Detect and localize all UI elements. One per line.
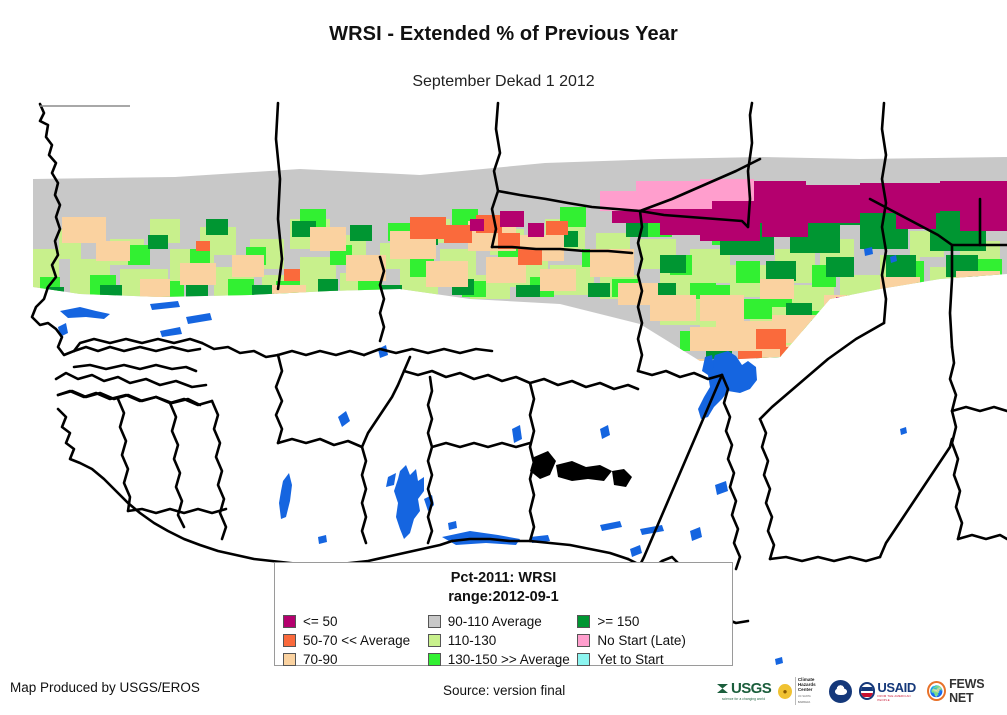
legend-swatch-icon (283, 653, 296, 666)
water-drop-icon: ● (778, 684, 792, 699)
legend-item: Yet to Start (577, 651, 726, 668)
legend-item-label: Yet to Start (597, 652, 663, 667)
legend-title: Pct-2011: WRSI range:2012-09-1 (275, 563, 732, 607)
legend-item: 70-90 (283, 651, 428, 668)
niger-delta-coast (530, 451, 632, 487)
globe-icon: 🌍 (927, 681, 946, 701)
wrsi-map-page: WRSI - Extended % of Previous Year Septe… (0, 0, 1007, 715)
usgs-mark-icon (716, 682, 729, 695)
footer-produced-by: Map Produced by USGS/EROS (10, 680, 200, 695)
legend-item-label: >= 150 (597, 614, 639, 629)
legend-swatch-icon (283, 615, 296, 628)
legend-title-line1: Pct-2011: WRSI (275, 569, 732, 588)
legend-item-label: 90-110 Average (448, 614, 542, 629)
legend-swatch-icon (428, 634, 441, 647)
legend-item-label: No Start (Late) (597, 633, 686, 648)
usaid-seal-icon (859, 682, 876, 700)
climate-hazards-center-logo: ● Climate Hazards Center UC SANTA BARBAR… (778, 677, 821, 705)
legend-item-label: 50-70 << Average (303, 633, 410, 648)
chc-sub: UC SANTA BARBARA (798, 695, 811, 704)
legend-swatch-icon (428, 653, 441, 666)
legend-item: No Start (Late) (577, 632, 726, 649)
legend-item: 90-110 Average (428, 613, 578, 630)
page-subtitle: September Dekad 1 2012 (0, 73, 1007, 91)
legend-item: 110-130 (428, 632, 578, 649)
fews-wordmark: FEWS NET (949, 677, 1007, 705)
legend-item: <= 50 (283, 613, 428, 630)
legend-columns: <= 50 50-70 << Average 70-90 90-110 Aver… (275, 613, 732, 668)
usaid-tagline: FROM THE AMERICAN PEOPLE (877, 694, 920, 702)
legend-column-2: 90-110 Average 110-130 130-150 >> Averag… (428, 613, 578, 668)
legend-item-label: <= 50 (303, 614, 338, 629)
chc-line3: Center (798, 687, 822, 692)
legend-item-label: 110-130 (448, 633, 497, 648)
legend-swatch-icon (577, 653, 590, 666)
page-title: WRSI - Extended % of Previous Year (0, 23, 1007, 46)
legend-item: 50-70 << Average (283, 632, 428, 649)
usaid-logo: USAID FROM THE AMERICAN PEOPLE (859, 677, 921, 705)
legend-title-line2: range:2012-09-1 (275, 588, 732, 607)
usgs-logo: USGS science for a changing world (716, 678, 771, 704)
legend-column-1: <= 50 50-70 << Average 70-90 (283, 613, 428, 668)
legend-item-label: 130-150 >> Average (448, 652, 570, 667)
footer-logo-strip: USGS science for a changing world ● Clim… (716, 676, 1007, 706)
usgs-wordmark: USGS (731, 681, 771, 696)
legend-item: 130-150 >> Average (428, 651, 578, 668)
noaa-logo (829, 677, 852, 705)
legend-item: >= 150 (577, 613, 726, 630)
legend-swatch-icon (283, 634, 296, 647)
legend-swatch-icon (577, 634, 590, 647)
usgs-tagline: science for a changing world (722, 697, 765, 702)
legend-swatch-icon (577, 615, 590, 628)
map-legend: Pct-2011: WRSI range:2012-09-1 <= 50 50-… (274, 562, 733, 666)
fews-net-logo: 🌍 FEWS NET (927, 677, 1007, 705)
legend-item-label: 70-90 (303, 652, 338, 667)
noaa-seal-icon (829, 680, 852, 703)
usaid-wordmark: USAID (877, 681, 920, 694)
legend-column-3: >= 150 No Start (Late) Yet to Start (577, 613, 726, 668)
chc-text-block: Climate Hazards Center UC SANTA BARBARA (795, 677, 822, 704)
footer-source: Source: version final (443, 683, 565, 698)
legend-swatch-icon (428, 615, 441, 628)
